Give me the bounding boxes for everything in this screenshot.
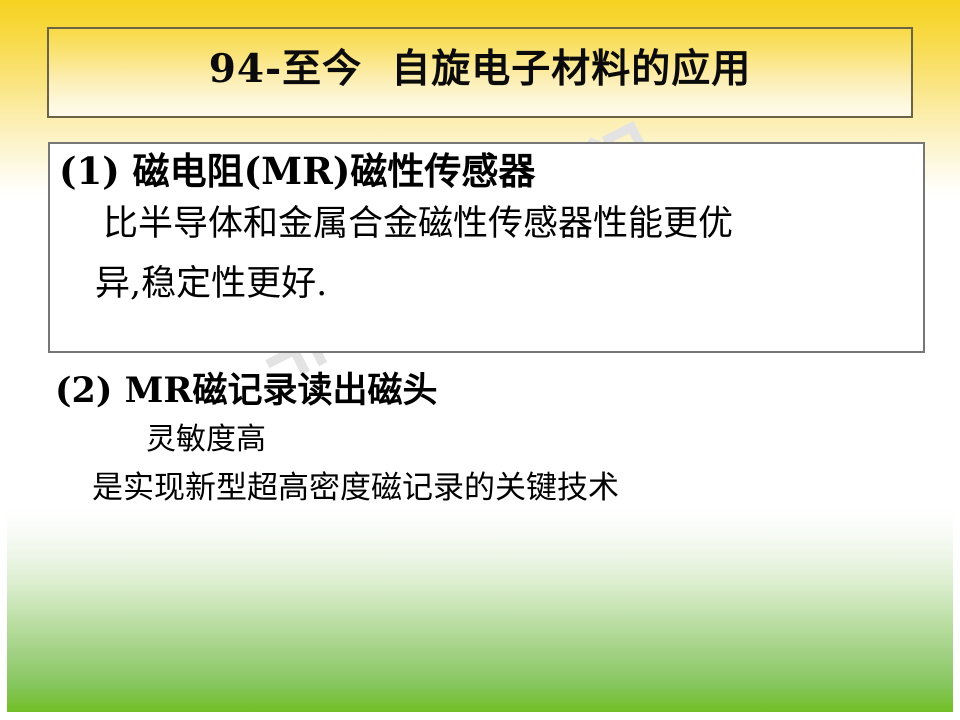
bottom-left-white-margin <box>0 508 7 720</box>
content-line-2: 比半导体和金属合金磁性传感器性能更优 <box>103 206 733 244</box>
slide-title: 94-至今 自旋电子材料的应用 <box>209 49 752 90</box>
content-box: (1) 磁电阻(MR)磁性传感器 比半导体和金属合金磁性传感器性能更优 异,稳定… <box>48 142 925 353</box>
lower-line-3: 是实现新型超高密度磁记录的关键技术 <box>92 472 619 505</box>
content-line-3: 异,稳定性更好. <box>95 266 327 304</box>
bottom-right-white-margin <box>953 508 960 720</box>
lower-line-2: 灵敏度高 <box>146 424 266 456</box>
lower-line-1: (2) MR磁记录读出磁头 <box>55 372 438 409</box>
title-box: 94-至今 自旋电子材料的应用 <box>47 27 913 118</box>
content-line-1: (1) 磁电阻(MR)磁性传感器 <box>59 152 535 192</box>
slide-canvas: 非会员水印 94-至今 自旋电子材料的应用 (1) 磁电阻(MR)磁性传感器 比… <box>0 0 960 720</box>
bottom-green-gradient-band <box>0 508 960 720</box>
bottom-white-margin <box>0 712 960 720</box>
